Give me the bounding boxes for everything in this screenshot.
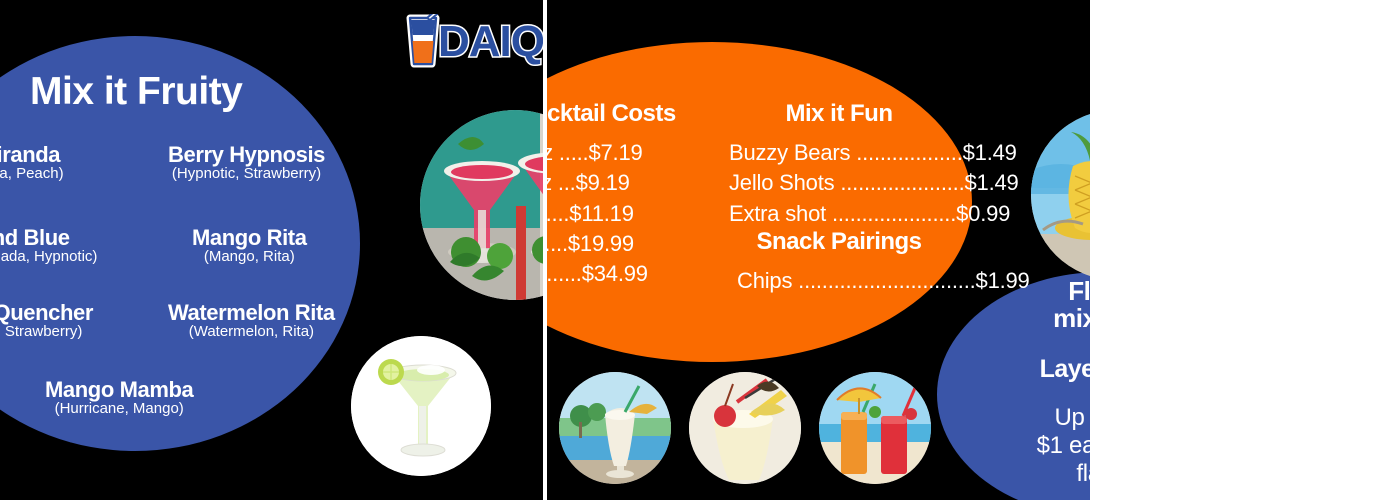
- drink-name: ruit Quencher: [0, 301, 93, 324]
- drink-ingredients: (Hurricane, Mango): [45, 401, 193, 418]
- cup-icon: [400, 14, 444, 70]
- photo-pineapple-beach: [1031, 110, 1090, 280]
- flavor-body-line1: Up to 3 fl: [951, 404, 1090, 432]
- price-row: 32oz ......$11.19: [547, 199, 676, 229]
- lime-margarita-illustration: [351, 336, 491, 476]
- photo-pina-colada-pool: [559, 372, 671, 484]
- price-value: $19.99: [568, 231, 634, 256]
- drink-name: Berry Hypnosis: [168, 143, 325, 166]
- price-row: m 24oz ...$9.19: [547, 168, 676, 198]
- list-item: Mango Mamba (Hurricane, Mango): [45, 378, 193, 418]
- flavor-subheading: Layered or: [951, 355, 1090, 384]
- price-value: $9.19: [576, 170, 630, 195]
- photo-strawberry-margaritas: [420, 110, 543, 300]
- section-title-snack-pairings: Snack Pairings: [729, 228, 949, 256]
- photo-pineapple-cherry-drink: [689, 372, 801, 484]
- flavor-heading-line2: mix opti: [951, 305, 1090, 332]
- pineapple-cherry-drink-illustration: [689, 372, 801, 484]
- list-item: ite, and Blue Piña Colada, Hypnotic): [0, 226, 97, 266]
- snack-pairings-section: Snack Pairings Chips ...................…: [729, 228, 949, 296]
- drink-name: ite, and Blue: [0, 226, 97, 249]
- flavor-body-line2: $1 each add: [951, 432, 1090, 460]
- drink-ingredients: erry, Rita, Peach): [0, 166, 64, 183]
- price-value: $0.99: [956, 201, 1010, 226]
- flavor-heading-line1: Flavo: [951, 278, 1090, 305]
- photo-beach-smoothies: [819, 372, 931, 484]
- drink-name: en Miranda: [0, 143, 64, 166]
- blank-right-margin: [1090, 0, 1400, 500]
- list-item: en Miranda erry, Rita, Peach): [0, 143, 64, 183]
- price-label: 32oz ......: [547, 201, 569, 226]
- signage-canvas: Mix it Fruity en Miranda erry, Rita, Pea…: [0, 0, 1400, 500]
- page-title-mix-it-fruity: Mix it Fruity: [30, 70, 242, 114]
- drink-ingredients: (Hypnotic, Strawberry): [168, 166, 325, 183]
- flavor-mix-options-section: Flavo mix opti Layered or Up to 3 fl $1 …: [951, 278, 1090, 489]
- flavor-body-line3: flavo: [951, 460, 1090, 488]
- drink-name: Mango Mamba: [45, 378, 193, 401]
- price-row: allon ......$19.99: [547, 229, 676, 259]
- price-label: Buzzy Bears ..................: [729, 140, 963, 165]
- price-label: Jello Shots .....................: [729, 170, 965, 195]
- list-item: Berry Hypnosis (Hypnotic, Strawberry): [168, 143, 325, 183]
- price-row: Chips ..............................$1.9…: [729, 266, 949, 296]
- drink-name: Watermelon Rita: [168, 301, 335, 324]
- drink-name: Mango Rita: [192, 226, 307, 249]
- price-row: n ..............$34.99: [547, 259, 676, 289]
- price-value: $11.19: [569, 201, 633, 226]
- drink-ingredients: (Mango, Rita): [192, 249, 307, 266]
- price-label: Extra shot .....................: [729, 201, 956, 226]
- price-value: $1.49: [963, 140, 1017, 165]
- price-label: Chips ..............................: [737, 268, 976, 293]
- price-row: Buzzy Bears ..................$1.49: [729, 138, 949, 168]
- price-label: allon ......: [547, 231, 568, 256]
- pina-colada-illustration: [559, 372, 671, 484]
- list-item: Mango Rita (Mango, Rita): [192, 226, 307, 266]
- price-value: $34.99: [582, 261, 648, 286]
- price-row: Extra shot .....................$0.99: [729, 199, 949, 229]
- mix-it-fun-section: Mix it Fun Buzzy Bears .................…: [729, 100, 949, 229]
- section-title-mix-it-fun: Mix it Fun: [729, 100, 949, 128]
- photo-lime-margarita-glass: [351, 336, 491, 476]
- cocktail-costs-section: cktail Costs ar 16oz .....$7.19 m 24oz .…: [547, 100, 676, 290]
- left-menu-panel: Mix it Fruity en Miranda erry, Rita, Pea…: [0, 0, 543, 500]
- cup-icon-svg: [400, 14, 444, 70]
- price-label: m 24oz ...: [547, 170, 576, 195]
- price-value: $7.19: [588, 140, 642, 165]
- daiquiri-logo: DAIQU: [400, 14, 543, 70]
- drink-ingredients: (Watermelon, Rita): [168, 324, 335, 341]
- list-item: ruit Quencher Peach, Strawberry): [0, 301, 93, 341]
- section-title-cocktail-costs: cktail Costs: [547, 100, 676, 128]
- price-row: ar 16oz .....$7.19: [547, 138, 676, 168]
- drink-ingredients: Piña Colada, Hypnotic): [0, 249, 97, 266]
- logo-wordmark: DAIQU: [438, 20, 543, 64]
- pineapple-beach-illustration: [1031, 110, 1090, 280]
- price-row: Jello Shots .....................$1.49: [729, 168, 949, 198]
- price-value: $1.49: [965, 170, 1019, 195]
- strawberry-margarita-illustration: [420, 110, 543, 300]
- beach-smoothies-illustration: [819, 372, 931, 484]
- right-menu-panel: cktail Costs ar 16oz .....$7.19 m 24oz .…: [547, 0, 1090, 500]
- price-label: n ..............: [547, 261, 582, 286]
- price-label: ar 16oz .....: [547, 140, 588, 165]
- drink-ingredients: Peach, Strawberry): [0, 324, 93, 341]
- list-item: Watermelon Rita (Watermelon, Rita): [168, 301, 335, 341]
